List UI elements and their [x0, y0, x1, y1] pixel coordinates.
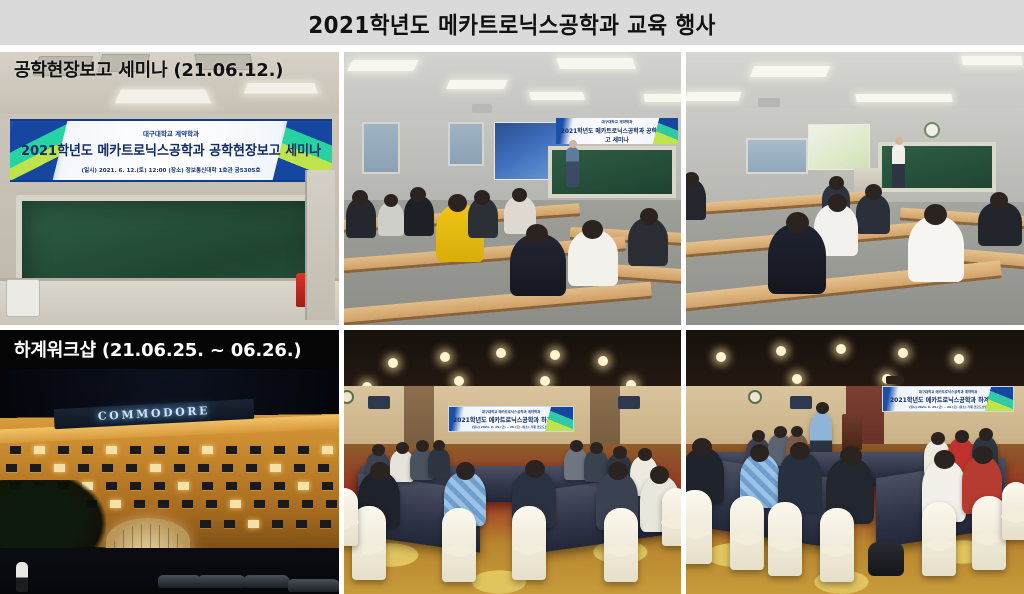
window: [150, 464, 161, 472]
window: [206, 500, 217, 508]
student-head: [786, 212, 809, 233]
attendee-head: [570, 440, 583, 452]
window: [270, 464, 281, 472]
student-figure: [404, 196, 434, 236]
ceiling-downlight: [836, 344, 846, 354]
parked-car: [288, 579, 339, 592]
window: [102, 464, 113, 472]
window: [178, 446, 189, 454]
banner-subtitle: 대구대학교 계약학과: [10, 128, 332, 138]
banquet-chair: [442, 508, 476, 582]
ceiling-downlight: [776, 346, 786, 356]
window: [320, 520, 331, 528]
window: [158, 500, 169, 508]
window: [202, 446, 213, 454]
window: [82, 446, 93, 454]
ceiling-light: [643, 94, 681, 102]
window: [230, 500, 241, 508]
window: [278, 500, 289, 508]
window: [322, 446, 333, 454]
poster-page: 2021학년도 메카트로닉스공학과 교육 행사 대구대학교 계약학과 2021학…: [0, 0, 1024, 594]
student-head: [448, 194, 467, 212]
attendee-head: [979, 428, 993, 441]
window: [254, 500, 265, 508]
attendee-head: [370, 462, 390, 480]
banner-info: (일시) 2021. 6. 12.(토) 12:00 (장소) 정보통신대학 1…: [10, 166, 332, 174]
window: [106, 482, 117, 490]
window: [746, 138, 808, 174]
window: [250, 446, 261, 454]
workshop-presentation-image: 대구대학교 메카트로닉스공학과 계약학과 2021학년도 메카트로닉스공학과 하…: [686, 330, 1024, 594]
attendee-head: [955, 430, 969, 443]
window: [448, 122, 484, 166]
window: [222, 464, 233, 472]
ceiling-downlight: [540, 376, 550, 386]
student-head: [526, 224, 548, 244]
parked-car: [198, 575, 246, 588]
student-figure: [686, 180, 706, 220]
projection-screen: [808, 124, 870, 170]
window: [296, 520, 307, 528]
parked-car: [244, 575, 290, 588]
attendee-head: [613, 446, 627, 459]
attendee-head: [650, 466, 669, 484]
window: [182, 500, 193, 508]
attendee-head: [416, 440, 429, 452]
window: [110, 500, 121, 508]
parked-car: [158, 575, 202, 588]
podium: [842, 414, 862, 450]
presenter-figure: [892, 144, 905, 188]
banner-title: 2021학년도 메카트로닉스공학과 하계워크샵: [452, 415, 570, 424]
student-figure: [856, 194, 890, 234]
waste-bin: [6, 279, 40, 317]
ceiling-downlight: [792, 374, 802, 384]
banquet-chair: [512, 506, 546, 580]
workshop-meeting-image: 대구대학교 메카트로닉스공학과 계약학과 2021학년도 메카트로닉스공학과 하…: [344, 330, 681, 594]
workshop-banner: 대구대학교 메카트로닉스공학과 계약학과 2021학년도 메카트로닉스공학과 하…: [448, 406, 574, 432]
window: [134, 500, 145, 508]
ceiling-light: [686, 92, 741, 101]
ceiling-downlight: [598, 356, 608, 366]
wall-clock-icon: [924, 122, 940, 138]
banquet-chair: [604, 508, 638, 582]
wall-speaker: [790, 396, 812, 409]
photo-seminar-room: 대구대학교 계약학과 2021학년도 메카트로닉스공학과 공학현장보고 세미나 …: [0, 52, 339, 325]
window-row: [0, 446, 339, 455]
student-head: [924, 204, 947, 225]
student-head: [410, 187, 426, 202]
window: [130, 482, 141, 490]
attendee-head: [638, 448, 652, 461]
ceiling-light: [446, 80, 508, 89]
student-head: [640, 208, 658, 225]
ceiling-downlight: [550, 350, 560, 360]
student-head: [512, 188, 527, 202]
caption-workshop: 하계워크샵 (21.06.25. ~ 06.26.): [0, 330, 339, 369]
ceiling-downlight: [954, 354, 964, 364]
attendee-head: [433, 440, 445, 451]
banner-title: 2021학년도 메카트로닉스공학과 하계워크샵: [886, 395, 1010, 404]
window: [226, 446, 237, 454]
seminar-banner: 대구대학교 계약학과 2021학년도 메카트로닉스공학과 공학현장보고 세미나 …: [10, 119, 332, 182]
student-head: [828, 194, 847, 212]
window: [58, 446, 69, 454]
banquet-chair: [768, 502, 802, 576]
wall-speaker: [368, 396, 390, 409]
ceiling-downlight: [388, 358, 398, 368]
window: [6, 464, 17, 472]
classroom-image: [686, 52, 1024, 325]
photo-workshop-meeting: 대구대학교 메카트로닉스공학과 계약학과 2021학년도 메카트로닉스공학과 하…: [344, 330, 681, 594]
window: [34, 446, 45, 454]
banner-title: 2021학년도 메카트로닉스공학과 공학현장보고 세미나: [16, 139, 325, 159]
window: [30, 464, 41, 472]
banquet-chair: [662, 488, 681, 546]
student-head: [474, 190, 490, 205]
window: [248, 520, 259, 528]
window: [78, 464, 89, 472]
photo-hotel-night: COMMODORE: [0, 330, 339, 594]
caption-seminar: 공학현장보고 세미나 (21.06.12.): [0, 52, 339, 86]
student-head: [582, 220, 603, 239]
ceiling-light: [855, 94, 952, 102]
attendee-head: [791, 426, 803, 437]
window: [272, 520, 283, 528]
attendee-head: [750, 444, 769, 462]
photo-workshop-presentation: 대구대학교 메카트로닉스공학과 계약학과 2021학년도 메카트로닉스공학과 하…: [686, 330, 1024, 594]
window: [54, 464, 65, 472]
attendee-head: [774, 426, 787, 438]
window: [302, 500, 313, 508]
banquet-chair: [972, 496, 1006, 570]
wall-clock-icon: [748, 390, 762, 404]
attendee-head: [608, 462, 628, 480]
ceiling-downlight: [716, 352, 726, 362]
seminar-room-image: 대구대학교 계약학과 2021학년도 메카트로닉스공학과 공학현장보고 세미나 …: [0, 52, 339, 325]
banner-subtitle: 대구대학교 메카트로닉스공학과 계약학과: [449, 409, 573, 414]
window: [126, 464, 137, 472]
door: [305, 170, 335, 320]
window: [318, 464, 329, 472]
attendee-head: [973, 446, 993, 464]
banquet-chair: [730, 496, 764, 570]
window: [224, 520, 235, 528]
ceiling-downlight: [898, 348, 908, 358]
banquet-chair: [1002, 482, 1024, 540]
window: [274, 482, 285, 490]
window: [298, 482, 309, 490]
student-figure: [908, 216, 964, 282]
banquet-chair: [686, 490, 712, 564]
window: [362, 122, 400, 174]
ceiling-downlight: [454, 376, 464, 386]
window: [294, 464, 305, 472]
banquet-chair: [344, 488, 358, 546]
window: [298, 446, 309, 454]
ceiling-light: [556, 58, 636, 69]
window: [226, 482, 237, 490]
student-head: [990, 192, 1008, 209]
attendee-head: [456, 462, 475, 480]
attendee-head: [396, 442, 409, 454]
window: [106, 446, 117, 454]
ceiling-downlight: [440, 352, 450, 362]
attendee-head: [934, 450, 955, 469]
attendee-head: [590, 442, 603, 454]
window: [326, 500, 337, 508]
presenter-head: [816, 402, 829, 414]
projector: [472, 104, 492, 113]
window-row: [0, 464, 339, 473]
banner-info: (일시) 2021. 6. 25.(금) ~ 26.(토) (장소) 거제 코모…: [883, 405, 1013, 409]
attendee-head: [752, 430, 765, 442]
window: [200, 520, 211, 528]
attendee-head: [525, 460, 545, 478]
window: [130, 446, 141, 454]
window: [274, 446, 285, 454]
attendee-head: [931, 432, 945, 445]
attendee-head: [840, 446, 862, 466]
ceiling-downlight: [496, 348, 506, 358]
workshop-banner: 대구대학교 메카트로닉스공학과 계약학과 2021학년도 메카트로닉스공학과 하…: [882, 386, 1014, 412]
lecture-hall-image: 대구대학교 계약학과 2021학년도 메카트로닉스공학과 공학현장보고 세미나: [344, 52, 681, 325]
window: [178, 482, 189, 490]
window: [174, 464, 185, 472]
backpack: [868, 542, 904, 576]
hotel-image: COMMODORE: [0, 330, 339, 594]
floor: [0, 281, 339, 325]
ceiling-light: [529, 92, 585, 100]
attendee-figure: [428, 448, 450, 478]
window: [202, 482, 213, 490]
window: [250, 482, 261, 490]
photo-lecture-hall: 대구대학교 계약학과 2021학년도 메카트로닉스공학과 공학현장보고 세미나: [344, 52, 681, 325]
student-figure: [628, 218, 668, 266]
presenter-figure: [566, 147, 579, 187]
ceiling-lamp: [115, 90, 211, 104]
ceiling: [686, 330, 1024, 394]
student-head: [352, 190, 368, 205]
wall-speaker: [618, 396, 640, 409]
banner-subtitle: 대구대학교 계약학과: [556, 120, 678, 125]
photo-classroom: [686, 52, 1024, 325]
photo-grid: 대구대학교 계약학과 2021학년도 메카트로닉스공학과 공학현장보고 세미나 …: [0, 52, 1024, 594]
ceiling-light: [347, 60, 419, 71]
window: [10, 446, 21, 454]
banner-subtitle: 대구대학교 메카트로닉스공학과 계약학과: [883, 389, 1013, 394]
window: [154, 482, 165, 490]
student-head: [384, 194, 398, 207]
page-header: 2021학년도 메카트로닉스공학과 교육 행사: [0, 0, 1024, 45]
banner-info: (일시) 2021. 6. 25.(금) ~ 26.(토) (장소) 거제 코모…: [449, 425, 573, 429]
window: [154, 446, 165, 454]
student-figure: [378, 202, 404, 236]
projector: [886, 376, 904, 384]
ceiling-light: [961, 56, 1023, 65]
banquet-chair: [820, 508, 854, 582]
ceiling-light: [750, 66, 830, 77]
attendee-head: [372, 444, 385, 456]
window: [322, 482, 333, 490]
student-head: [865, 184, 882, 200]
page-title: 2021학년도 메카트로닉스공학과 교육 행사: [308, 6, 715, 40]
attendee-head: [790, 442, 810, 460]
attendee-head: [692, 438, 712, 456]
projector: [758, 98, 780, 107]
student-head: [829, 176, 844, 190]
pedestrian-figure: [16, 562, 28, 592]
window: [198, 464, 209, 472]
banquet-chair: [922, 502, 956, 576]
window: [246, 464, 257, 472]
student-figure: [768, 224, 826, 294]
